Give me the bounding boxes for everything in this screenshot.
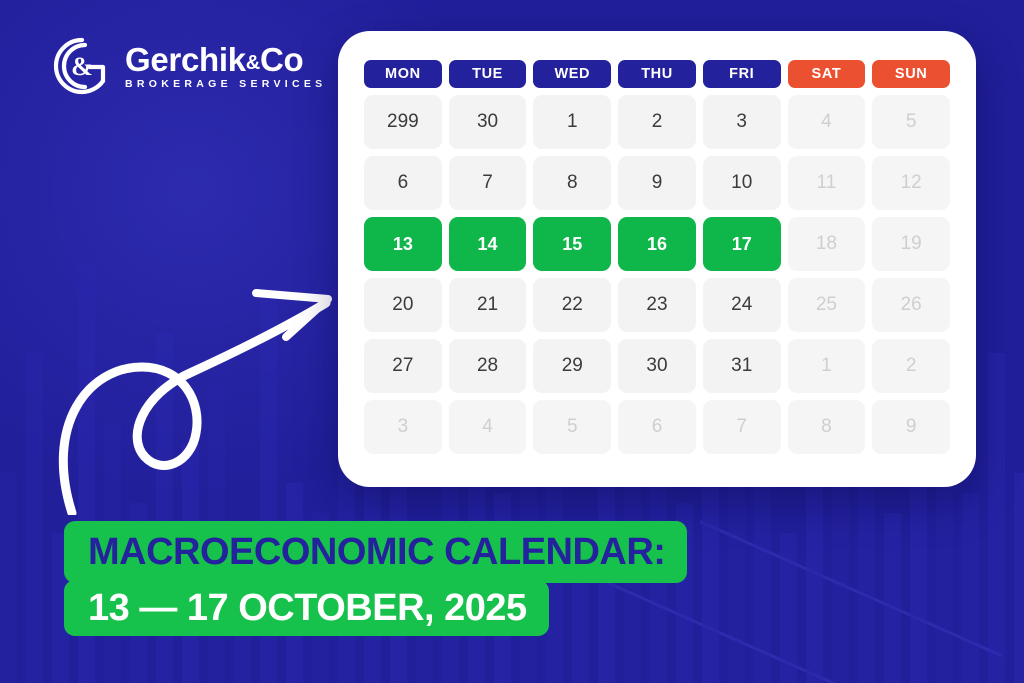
background-bar (884, 513, 901, 683)
calendar-day-cell[interactable]: 8 (533, 156, 611, 210)
calendar-day-cell[interactable]: 13 (364, 217, 442, 271)
calendar-day-cell[interactable]: 18 (788, 217, 866, 271)
gerchik-monogram-icon: & (52, 36, 112, 96)
calendar-day-cell[interactable]: 28 (449, 339, 527, 393)
calendar-day-cell[interactable]: 23 (618, 278, 696, 332)
calendar-day-cell[interactable]: 10 (703, 156, 781, 210)
hand-drawn-looping-arrow-icon (50, 275, 350, 520)
calendar-day-cell[interactable]: 8 (788, 400, 866, 454)
poster-canvas: & Gerchik&Co BROKERAGE SERVICES MONTUEWE… (0, 0, 1024, 683)
calendar-day-cell[interactable]: 14 (449, 217, 527, 271)
calendar-day-cell[interactable]: 5 (533, 400, 611, 454)
calendar-day-cell[interactable]: 26 (872, 278, 950, 332)
calendar-day-cell[interactable]: 9 (618, 156, 696, 210)
calendar-day-cell[interactable]: 16 (618, 217, 696, 271)
title-banner-line2: 13 — 17 OCTOBER, 2025 (64, 580, 549, 636)
brand-logo: & Gerchik&Co BROKERAGE SERVICES (52, 36, 326, 96)
calendar-day-cell[interactable]: 27 (364, 339, 442, 393)
calendar-day-cell[interactable]: 21 (449, 278, 527, 332)
calendar-day-cell[interactable]: 15 (533, 217, 611, 271)
calendar-day-cell[interactable]: 25 (788, 278, 866, 332)
calendar-day-cell[interactable]: 7 (703, 400, 781, 454)
calendar-day-cell[interactable]: 17 (703, 217, 781, 271)
calendar-day-cell[interactable]: 2 (618, 95, 696, 149)
background-bar (780, 533, 797, 683)
title-banner-line1: MACROECONOMIC CALENDAR: (64, 521, 687, 583)
calendar-header-mon: MON (364, 60, 442, 88)
brand-name-part1: Gerchik (125, 41, 246, 78)
calendar-header-sat: SAT (788, 60, 866, 88)
page-title-line1: MACROECONOMIC CALENDAR: (88, 533, 665, 571)
background-bar (728, 483, 745, 683)
background-bar (26, 353, 43, 683)
background-bar (832, 453, 849, 683)
calendar-day-cell[interactable]: 6 (618, 400, 696, 454)
background-bar (1014, 473, 1024, 683)
brand-name-part2: Co (260, 41, 303, 78)
calendar-header-wed: WED (533, 60, 611, 88)
background-bar (988, 353, 1005, 683)
calendar-day-cell[interactable]: 24 (703, 278, 781, 332)
calendar-header-tue: TUE (449, 60, 527, 88)
calendar-day-cell[interactable]: 30 (449, 95, 527, 149)
calendar-day-cell[interactable]: 6 (364, 156, 442, 210)
calendar-header-thu: THU (618, 60, 696, 88)
calendar-day-cell[interactable]: 4 (788, 95, 866, 149)
background-bar (962, 493, 979, 683)
calendar-day-cell[interactable]: 30 (618, 339, 696, 393)
background-bar (0, 473, 17, 683)
calendar-day-cell[interactable]: 4 (449, 400, 527, 454)
calendar-day-cell[interactable]: 9 (872, 400, 950, 454)
calendar-day-cell[interactable]: 299 (364, 95, 442, 149)
title-banner-group: MACROECONOMIC CALENDAR: 13 — 17 OCTOBER,… (64, 521, 687, 636)
brand-tagline: BROKERAGE SERVICES (125, 79, 326, 90)
calendar-day-cell[interactable]: 5 (872, 95, 950, 149)
calendar-grid: MONTUEWEDTHUFRISATSUN2993012345678910111… (364, 60, 950, 454)
calendar-day-cell[interactable]: 7 (449, 156, 527, 210)
calendar-day-cell[interactable]: 12 (872, 156, 950, 210)
calendar-header-sun: SUN (872, 60, 950, 88)
calendar-day-cell[interactable]: 1 (788, 339, 866, 393)
calendar-day-cell[interactable]: 31 (703, 339, 781, 393)
calendar-day-cell[interactable]: 19 (872, 217, 950, 271)
calendar-day-cell[interactable]: 3 (703, 95, 781, 149)
calendar-day-cell[interactable]: 20 (364, 278, 442, 332)
brand-name-amp: & (246, 52, 260, 74)
svg-text:&: & (71, 52, 93, 81)
calendar-day-cell[interactable]: 29 (533, 339, 611, 393)
calendar-day-cell[interactable]: 22 (533, 278, 611, 332)
calendar-day-cell[interactable]: 2 (872, 339, 950, 393)
calendar-day-cell[interactable]: 11 (788, 156, 866, 210)
calendar-header-fri: FRI (703, 60, 781, 88)
calendar-card: MONTUEWEDTHUFRISATSUN2993012345678910111… (338, 31, 976, 487)
page-title-line2: 13 — 17 OCTOBER, 2025 (88, 589, 527, 627)
calendar-day-cell[interactable]: 1 (533, 95, 611, 149)
brand-name: Gerchik&Co (125, 43, 326, 76)
calendar-day-cell[interactable]: 3 (364, 400, 442, 454)
